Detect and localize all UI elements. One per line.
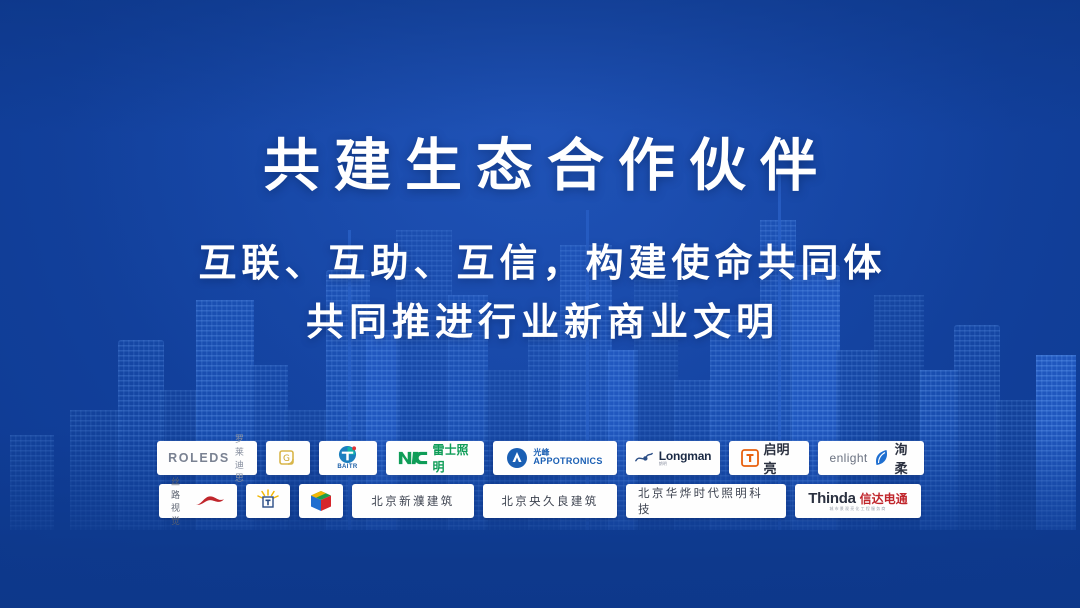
- roleds-wordmark: ROLEDS: [168, 451, 230, 465]
- thinda-latin-label: Thinda: [808, 491, 855, 507]
- color-cube-icon: [309, 489, 333, 513]
- partner-chip-gl[interactable]: G: [266, 441, 310, 475]
- partner-chip-nvc[interactable]: 雷士照明: [386, 441, 484, 475]
- qimingliang-cn-label: 启明亮: [764, 439, 797, 477]
- partner-chip-huaye[interactable]: 北京华烨时代照明科技: [626, 484, 786, 518]
- headline-block: 共建生态合作伙伴 互联、互助、互信，构建使命共同体 共同推进行业新商业文明: [0, 0, 1080, 351]
- partner-chip-yangjiuliang[interactable]: 北京央久良建筑: [483, 484, 617, 518]
- silu-cn-label: 丝路视觉: [171, 475, 190, 527]
- enlight-cn-label: 洵柔: [895, 439, 912, 477]
- sunburst-stack: [255, 489, 281, 513]
- thinda-cn-label: 信达电通: [860, 493, 908, 506]
- thinda-wordmark-stack: Thinda 信达电通 城市景观亮化工程服务商: [808, 491, 907, 511]
- appotronics-wordmark-stack: 光峰 APPOTRONICS: [533, 449, 602, 467]
- baitr-wordmark: BAITR: [337, 464, 357, 470]
- partner-logo-row-2: 丝路视觉: [0, 484, 1080, 518]
- nvc-icon: [398, 450, 428, 466]
- partner-chip-runxing[interactable]: [246, 484, 290, 518]
- partner-chip-silu[interactable]: 丝路视觉: [159, 484, 237, 518]
- baitr-circle-icon: [338, 445, 357, 464]
- longman-swirl-icon: [634, 450, 654, 466]
- g-badge-icon: G: [277, 448, 299, 468]
- sunburst-icon: [255, 489, 281, 509]
- partner-chip-appotronics[interactable]: 光峰 APPOTRONICS: [493, 441, 617, 475]
- xinpu-cn-label: 北京新濮建筑: [371, 493, 454, 509]
- partner-chip-longman[interactable]: Longman 朗明: [626, 441, 720, 475]
- partner-chip-roleds[interactable]: ROLEDS 罗莱迪思: [157, 441, 257, 475]
- partner-chip-enlight[interactable]: enlight 洵柔: [818, 441, 924, 475]
- appotronics-latin-label: APPOTRONICS: [533, 457, 602, 466]
- appotronics-circle-icon: [506, 447, 528, 469]
- roleds-cn-label: 罗莱迪思: [235, 432, 245, 484]
- page-title: 共建生态合作伙伴: [0, 135, 1080, 198]
- enlight-leaf-icon: [873, 449, 890, 467]
- enlight-latin-label: enlight: [830, 451, 868, 465]
- subtitle-line-2: 共同推进行业新商业文明: [0, 293, 1080, 352]
- longman-wordmark-stack: Longman 朗明: [659, 450, 712, 467]
- longman-cn-label: 朗明: [659, 462, 667, 466]
- partner-chip-cube[interactable]: [299, 484, 343, 518]
- partner-chip-baitr[interactable]: BAITR: [319, 441, 377, 475]
- partner-logo-grid: ROLEDS 罗莱迪思 G: [0, 441, 1080, 527]
- partner-chip-xinpu[interactable]: 北京新濮建筑: [352, 484, 474, 518]
- partner-poster: 共建生态合作伙伴 互联、互助、互信，构建使命共同体 共同推进行业新商业文明 RO…: [0, 0, 1080, 608]
- subtitle-line-1: 互联、互助、互信，构建使命共同体: [0, 234, 1080, 293]
- huaye-cn-label: 北京华烨时代照明科技: [638, 485, 774, 517]
- yangjiuliang-cn-label: 北京央久良建筑: [501, 493, 598, 509]
- thinda-tagline: 城市景观亮化工程服务商: [829, 507, 886, 511]
- partner-logo-row-1: ROLEDS 罗莱迪思 G: [0, 441, 1080, 475]
- svg-text:G: G: [283, 454, 290, 464]
- partner-chip-thinda[interactable]: Thinda 信达电通 城市景观亮化工程服务商: [795, 484, 921, 518]
- silu-wave-icon: [195, 494, 225, 508]
- partner-chip-qimingliang[interactable]: 启明亮: [729, 441, 809, 475]
- qiming-square-icon: [741, 449, 759, 467]
- runxing-caption: [267, 509, 268, 513]
- nvc-cn-label: 雷士照明: [433, 441, 472, 475]
